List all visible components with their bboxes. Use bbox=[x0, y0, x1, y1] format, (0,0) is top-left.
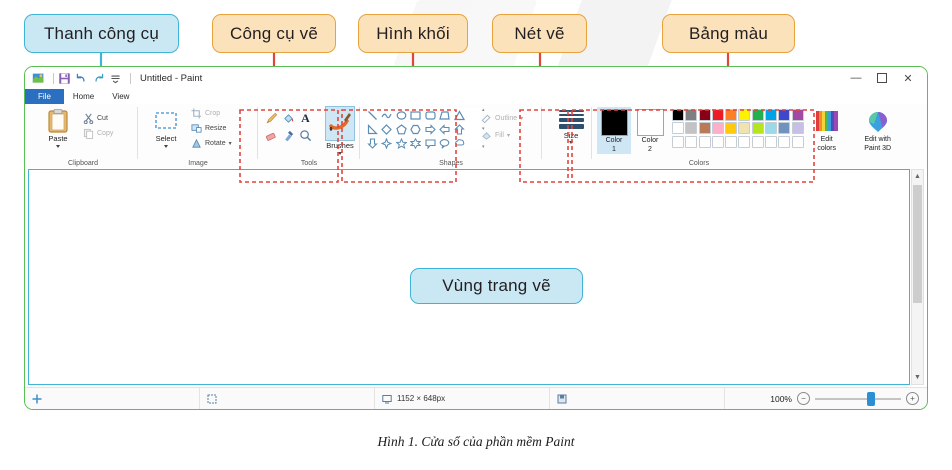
window-title: Untitled - Paint bbox=[140, 73, 202, 84]
callout-label: Vùng trang vẽ bbox=[442, 276, 550, 296]
ribbon-group-image: Select Crop Resiz bbox=[141, 104, 255, 168]
zoom-out-button[interactable]: − bbox=[797, 392, 810, 405]
color-picker-icon bbox=[282, 129, 295, 142]
close-button[interactable]: ✕ bbox=[895, 68, 921, 88]
crop-label: Crop bbox=[205, 110, 220, 117]
shape-left-arrow[interactable] bbox=[438, 122, 453, 136]
color-swatch-2-8[interactable] bbox=[765, 122, 777, 134]
shape-down-arrow[interactable] bbox=[365, 136, 380, 150]
shape-right-triangle[interactable] bbox=[365, 122, 380, 136]
select-button[interactable]: Select bbox=[145, 108, 187, 148]
file-size-icon bbox=[557, 394, 567, 404]
group-label-colors: Colors bbox=[535, 160, 863, 167]
shape-spacer bbox=[467, 108, 482, 122]
color-swatch-1-3[interactable] bbox=[699, 109, 711, 121]
shape-oval[interactable] bbox=[394, 108, 409, 122]
divider bbox=[359, 107, 360, 159]
color-swatch-3-7[interactable] bbox=[752, 136, 764, 148]
color-swatch-1-4[interactable] bbox=[712, 109, 724, 121]
size-label: Size bbox=[564, 132, 579, 140]
copy-label: Copy bbox=[97, 130, 113, 137]
color1-label-bottom: 1 bbox=[612, 146, 616, 154]
shape-rounded-rectangle[interactable] bbox=[423, 108, 438, 122]
group-label-clipboard: Clipboard bbox=[31, 160, 135, 167]
paste-label: Paste bbox=[48, 135, 67, 143]
edit-colors-icon bbox=[814, 109, 840, 135]
color-swatch-2-4[interactable] bbox=[712, 122, 724, 134]
ribbon-tabs: File Home View ⌃ ? bbox=[25, 89, 927, 105]
status-image-size: 1152 × 648px bbox=[375, 388, 550, 410]
divider bbox=[137, 107, 138, 159]
group-label-shapes: Shapes bbox=[363, 160, 539, 167]
save-icon[interactable] bbox=[58, 72, 71, 85]
pencil-icon bbox=[265, 112, 278, 125]
copy-icon bbox=[83, 128, 94, 139]
color-swatch-2-2[interactable] bbox=[685, 122, 697, 134]
group-label-tools: Tools bbox=[261, 160, 357, 167]
color-swatch-2-9[interactable] bbox=[778, 122, 790, 134]
tool-eraser[interactable] bbox=[263, 127, 280, 144]
minimize-button[interactable]: — bbox=[843, 68, 869, 88]
color-swatch-2-6[interactable] bbox=[738, 122, 750, 134]
callout-label: Công cụ vẽ bbox=[230, 24, 318, 44]
ribbon-group-size: Size bbox=[545, 104, 589, 168]
image-size-icon bbox=[382, 394, 392, 404]
shape-triangle[interactable] bbox=[452, 108, 467, 122]
size-button[interactable]: Size bbox=[550, 110, 592, 144]
scrollbar-thumb[interactable] bbox=[913, 185, 922, 303]
color-swatch-1-2[interactable] bbox=[685, 109, 697, 121]
shape-rectangle[interactable] bbox=[409, 108, 424, 122]
color1-button[interactable]: Color 1 bbox=[597, 107, 631, 154]
divider bbox=[541, 107, 542, 159]
status-file-size bbox=[550, 388, 725, 410]
brushes-button[interactable]: Brushes bbox=[319, 106, 361, 155]
color-swatch-2-5[interactable] bbox=[725, 122, 737, 134]
brushes-icon bbox=[327, 108, 353, 134]
size-icon bbox=[559, 110, 584, 129]
color-swatch-1-10[interactable] bbox=[792, 109, 804, 121]
callout-shapes: Hình khối bbox=[358, 14, 468, 53]
ribbon-group-clipboard: Paste Cut bbox=[31, 104, 135, 168]
color1-label-top: Color bbox=[606, 137, 623, 145]
scroll-down-icon[interactable]: ▼ bbox=[912, 371, 923, 384]
group-label-image: Image bbox=[141, 160, 255, 167]
color-swatch-3-2[interactable] bbox=[685, 136, 697, 148]
chevron-down-icon[interactable] bbox=[569, 141, 573, 144]
chevron-down-icon[interactable] bbox=[338, 152, 342, 155]
edit-colors-label-1: Edit bbox=[821, 136, 833, 144]
shape-hexagon[interactable] bbox=[409, 122, 424, 136]
undo-icon[interactable] bbox=[75, 72, 88, 85]
selection-size-icon bbox=[207, 394, 217, 404]
ribbon-group-colors: Color 1 Color 2 bbox=[595, 104, 923, 168]
chevron-down-icon[interactable] bbox=[56, 145, 60, 148]
edit-colors-label-2: colors bbox=[817, 145, 836, 153]
fill-bucket-icon bbox=[481, 130, 492, 141]
zoom-controls: 100% − + bbox=[770, 392, 927, 405]
window-controls: — ✕ bbox=[843, 67, 921, 89]
color-swatch-2-1[interactable] bbox=[672, 122, 684, 134]
callout-line-size: Nét vẽ bbox=[492, 14, 587, 53]
shape-polygon[interactable] bbox=[438, 108, 453, 122]
select-icon bbox=[153, 108, 179, 134]
status-selection-size bbox=[200, 388, 375, 410]
color-swatch-1-9[interactable] bbox=[778, 109, 790, 121]
rotate-button[interactable]: Rotate ▾ bbox=[191, 136, 232, 151]
color-swatch-1-7[interactable] bbox=[752, 109, 764, 121]
chevron-down-icon[interactable]: ▾ bbox=[520, 115, 523, 122]
color-swatch-1-5[interactable] bbox=[725, 109, 737, 121]
chevron-down-icon[interactable]: ▾ bbox=[507, 132, 510, 139]
paint3d-label-2: Paint 3D bbox=[864, 145, 891, 153]
cut-button[interactable]: Cut bbox=[83, 111, 113, 126]
shape-pentagon[interactable] bbox=[394, 122, 409, 136]
shapes-gallery[interactable] bbox=[365, 108, 481, 150]
figure-root: Thanh công cụ Công cụ vẽ Hình khối Nét v… bbox=[0, 0, 952, 470]
shape-spacer bbox=[467, 122, 482, 136]
color-swatch-3-6[interactable] bbox=[738, 136, 750, 148]
zoom-slider-thumb[interactable] bbox=[867, 392, 875, 406]
crop-icon bbox=[191, 108, 202, 119]
rotate-label: Rotate bbox=[205, 140, 226, 147]
paste-button[interactable]: Paste bbox=[37, 108, 79, 148]
shapes-expand-icon[interactable]: ▾ bbox=[482, 145, 485, 150]
vertical-scrollbar[interactable]: ▲ ▼ bbox=[911, 169, 924, 385]
color-swatch-2-10[interactable] bbox=[792, 122, 804, 134]
magnifier-icon bbox=[299, 129, 312, 142]
tool-text[interactable]: A bbox=[297, 110, 314, 127]
brushes-label: Brushes bbox=[326, 142, 354, 150]
callout-color-palette: Bảng màu bbox=[662, 14, 795, 53]
divider bbox=[591, 107, 592, 159]
tool-pencil[interactable] bbox=[263, 110, 280, 127]
redo-icon[interactable] bbox=[92, 72, 105, 85]
paint3d-button[interactable]: Edit with Paint 3D bbox=[855, 109, 901, 153]
scroll-up-icon[interactable]: ▲ bbox=[912, 170, 923, 183]
paint3d-label-1: Edit with bbox=[864, 136, 890, 144]
shape-right-arrow[interactable] bbox=[423, 122, 438, 136]
color-swatch-3-9[interactable] bbox=[778, 136, 790, 148]
figure-caption: Hình 1. Cửa sổ của phần mềm Paint bbox=[0, 434, 952, 450]
ribbon: Paste Cut bbox=[25, 104, 927, 168]
shape-six-point-star[interactable] bbox=[409, 136, 424, 150]
zoom-level: 100% bbox=[770, 394, 792, 404]
fill-icon bbox=[282, 112, 295, 125]
color-swatch-3-5[interactable] bbox=[725, 136, 737, 148]
callout-toolbar: Thanh công cụ bbox=[24, 14, 179, 53]
crosshair-icon bbox=[32, 394, 42, 404]
chevron-down-icon[interactable]: ▾ bbox=[229, 140, 232, 147]
tab-home[interactable]: Home bbox=[64, 89, 103, 104]
tool-color-picker[interactable] bbox=[280, 127, 297, 144]
color-swatch-1-1[interactable] bbox=[672, 109, 684, 121]
shape-diamond[interactable] bbox=[380, 122, 395, 136]
shape-spacer bbox=[467, 136, 482, 150]
paint-icon[interactable] bbox=[32, 72, 45, 85]
cut-icon bbox=[83, 113, 94, 124]
title-bar: Untitled - Paint — ✕ bbox=[25, 67, 927, 89]
color-swatch-3-10[interactable] bbox=[792, 136, 804, 148]
ribbon-group-tools: A bbox=[261, 104, 357, 168]
outline-label: Outline bbox=[495, 115, 517, 122]
shape-four-point-star[interactable] bbox=[380, 136, 395, 150]
color-swatch-3-3[interactable] bbox=[699, 136, 711, 148]
divider bbox=[130, 73, 131, 84]
text-icon: A bbox=[301, 111, 310, 126]
copy-button[interactable]: Copy bbox=[83, 126, 113, 141]
color-swatch-1-8[interactable] bbox=[765, 109, 777, 121]
zoom-in-button[interactable]: + bbox=[906, 392, 919, 405]
select-label: Select bbox=[156, 135, 177, 143]
callout-label: Thanh công cụ bbox=[44, 24, 159, 44]
divider bbox=[53, 73, 54, 84]
color-palette[interactable] bbox=[672, 109, 804, 148]
callout-canvas-area: Vùng trang vẽ bbox=[410, 268, 583, 304]
paste-icon bbox=[45, 108, 71, 134]
shape-oval-callout[interactable] bbox=[438, 136, 453, 150]
callout-label: Hình khối bbox=[376, 24, 450, 44]
customize-icon[interactable] bbox=[109, 72, 122, 85]
paint3d-icon bbox=[865, 109, 891, 135]
edit-colors-button[interactable]: Edit colors bbox=[809, 109, 845, 153]
color-swatch-3-4[interactable] bbox=[712, 136, 724, 148]
ribbon-group-shapes: ▴ ▾ ▾ Outline ▾ bbox=[363, 104, 539, 168]
shape-rounded-callout[interactable] bbox=[423, 136, 438, 150]
color2-label-bottom: 2 bbox=[648, 146, 652, 154]
fill-label: Fill bbox=[495, 132, 504, 139]
rotate-icon bbox=[191, 138, 202, 149]
callout-label: Nét vẽ bbox=[514, 24, 564, 44]
status-bar: 1152 × 648px 100% − + bbox=[25, 387, 927, 409]
resize-button[interactable]: Resize bbox=[191, 121, 232, 136]
color-swatch-2-3[interactable] bbox=[699, 122, 711, 134]
color-swatch-2-7[interactable] bbox=[752, 122, 764, 134]
divider bbox=[257, 107, 258, 159]
callout-label: Bảng màu bbox=[689, 24, 768, 44]
paint-window: Untitled - Paint — ✕ File Home View ⌃ ? bbox=[24, 66, 928, 410]
callout-drawing-tools: Công cụ vẽ bbox=[212, 14, 336, 53]
shape-line[interactable] bbox=[365, 108, 380, 122]
chevron-down-icon[interactable] bbox=[164, 145, 168, 148]
shape-curve[interactable] bbox=[380, 108, 395, 122]
color2-swatch bbox=[637, 109, 664, 136]
resize-label: Resize bbox=[205, 125, 226, 132]
tool-magnifier[interactable] bbox=[297, 127, 314, 144]
color1-swatch bbox=[601, 109, 628, 136]
image-size-value: 1152 × 648px bbox=[397, 394, 445, 403]
shape-up-arrow[interactable] bbox=[452, 122, 467, 136]
shape-five-point-star[interactable] bbox=[394, 136, 409, 150]
resize-icon bbox=[191, 123, 202, 134]
shape-cloud-callout[interactable] bbox=[452, 136, 467, 150]
cut-label: Cut bbox=[97, 115, 108, 122]
outline-icon bbox=[481, 113, 492, 124]
color2-button[interactable]: Color 2 bbox=[633, 107, 667, 154]
color-swatch-3-1[interactable] bbox=[672, 136, 684, 148]
color-swatch-1-6[interactable] bbox=[738, 109, 750, 121]
fill-button[interactable]: Fill ▾ bbox=[481, 127, 523, 144]
maximize-button[interactable] bbox=[869, 68, 895, 88]
tool-fill[interactable] bbox=[280, 110, 297, 127]
zoom-slider-track[interactable] bbox=[815, 398, 901, 400]
eraser-icon bbox=[265, 129, 278, 142]
tab-view[interactable]: View bbox=[103, 89, 138, 104]
tab-file[interactable]: File bbox=[25, 89, 64, 104]
outline-button[interactable]: Outline ▾ bbox=[481, 110, 523, 127]
color-swatch-3-8[interactable] bbox=[765, 136, 777, 148]
color2-label-top: Color bbox=[642, 137, 659, 145]
status-cursor-position bbox=[25, 388, 200, 410]
crop-button[interactable]: Crop bbox=[191, 106, 232, 121]
